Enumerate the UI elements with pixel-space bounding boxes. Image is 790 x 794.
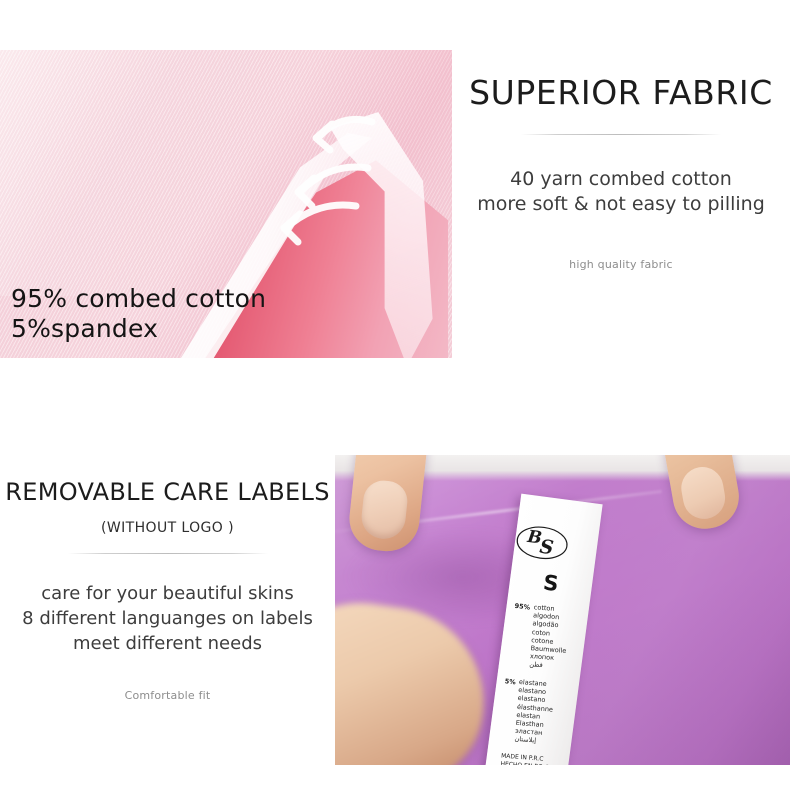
care-label-photo: B S S 95% cotton algodon algodão coton c… — [335, 455, 790, 765]
fingernail — [678, 464, 728, 523]
label-size-value: S — [509, 566, 593, 600]
care-labels-heading: REMOVABLE CARE LABELS — [0, 455, 335, 507]
label-elastane-languages: elastane elastano elastano élasthanne el… — [514, 678, 555, 746]
label-cotton-percent: 95% — [514, 601, 531, 612]
fabric-heading: SUPERIOR FABRIC — [452, 50, 790, 113]
label-origin-text: MADE IN P.R.C HECHO EN P.R.C FEITO EM P.… — [484, 752, 569, 765]
fabric-text-column: SUPERIOR FABRIC 40 yarn combed cotton mo… — [452, 50, 790, 360]
brand-monogram-icon: B S — [513, 521, 571, 564]
fabric-description: 40 yarn combed cotton more soft & not ea… — [452, 135, 790, 217]
fingernail — [359, 479, 409, 541]
svg-text:S: S — [538, 536, 554, 560]
care-labels-description: care for your beautiful skins 8 differen… — [0, 554, 335, 656]
fabric-composition-caption: 95% combed cotton 5%spandex — [11, 284, 266, 344]
label-elastane-block: 5% elastane elastano elastano élasthanne… — [489, 675, 579, 751]
fabric-photo: 95% combed cotton 5%spandex — [0, 50, 452, 358]
label-cotton-languages: cotton algodon algodão coton cotone Baum… — [529, 603, 570, 671]
care-labels-subtitle: (WITHOUT LOGO ) — [0, 507, 335, 537]
label-cotton-block: 95% cotton algodon algodão coton cotone … — [499, 600, 589, 676]
care-labels-note: Comfortable fit — [0, 656, 335, 703]
care-labels-text-column: REMOVABLE CARE LABELS (WITHOUT LOGO ) ca… — [0, 455, 335, 765]
product-feature-banner: 95% combed cotton 5%spandex SUPERIOR FAB… — [0, 0, 790, 794]
label-elastane-percent: 5% — [504, 676, 516, 686]
fabric-note: high quality fabric — [452, 217, 790, 272]
